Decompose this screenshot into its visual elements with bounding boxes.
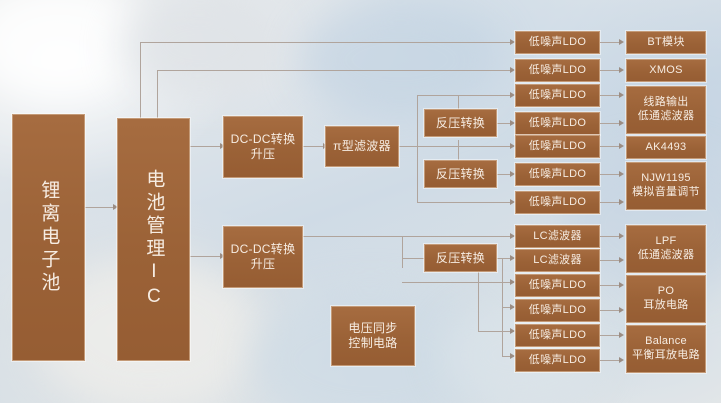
- regulator-bottom-1-label: LC滤波器: [533, 230, 582, 244]
- regulator-top-5-label: 低噪声LDO: [529, 140, 586, 154]
- diagram-canvas: 锂离电子池 电池管理IC DC-DC转换 升压 π型滤波器 反压转换 反压转换 …: [0, 0, 721, 403]
- regulator-top-7-label: 低噪声LDO: [529, 196, 586, 210]
- block-inverter-mid[interactable]: 反压转换: [424, 160, 497, 188]
- link-dcdc-pi: [303, 146, 325, 147]
- background-blur-2: [120, 0, 280, 100]
- block-dcdc-bottom-label: DC-DC转换 升压: [231, 242, 296, 272]
- arrow-loadb-3a: [619, 332, 624, 338]
- block-voltage-sync-label: 电压同步 控制电路: [348, 321, 397, 351]
- background-blur-3: [300, 0, 500, 120]
- load-bt-module-label: BT模块: [647, 36, 684, 50]
- load-balance-amp[interactable]: Balance 平衡耳放电路: [626, 325, 706, 373]
- block-bms[interactable]: 电池管理IC: [117, 118, 190, 361]
- regulator-bottom-4[interactable]: 低噪声LDO: [515, 299, 600, 322]
- link-pi-ldo3: [417, 95, 512, 96]
- regulator-bottom-4-label: 低噪声LDO: [529, 304, 586, 318]
- block-pi-filter-label: π型滤波器: [333, 139, 391, 154]
- arrow-loadb-1a: [619, 233, 624, 239]
- block-inverter-bottom-label: 反压转换: [436, 251, 485, 266]
- load-lpf[interactable]: LPF 低通滤波器: [626, 225, 706, 273]
- regulator-top-2-label: 低噪声LDO: [529, 64, 586, 78]
- regulator-top-4-label: 低噪声LDO: [529, 117, 586, 131]
- regulator-bottom-1[interactable]: LC滤波器: [515, 225, 600, 248]
- arrow-loadb-1b: [619, 257, 624, 263]
- load-lpf-label: LPF 低通滤波器: [638, 235, 695, 263]
- regulator-bottom-2-label: LC滤波器: [533, 254, 582, 268]
- arrow-load-2: [619, 67, 624, 73]
- regulator-top-7[interactable]: 低噪声LDO: [515, 191, 600, 214]
- load-po-amp[interactable]: PO 耳放电路: [626, 275, 706, 323]
- block-pi-filter[interactable]: π型滤波器: [325, 126, 399, 167]
- arrow-loadb-2b: [619, 307, 624, 313]
- block-inverter-mid-label: 反压转换: [436, 167, 485, 182]
- arrow-load-5b: [619, 199, 624, 205]
- load-po-amp-label: PO 耳放电路: [643, 285, 688, 313]
- load-njw1195-label: NJW1195 模拟音量调节: [632, 172, 700, 200]
- link-pi-bus-down: [417, 146, 418, 202]
- load-line-out-lpf-label: 线路输出 低通滤波器: [638, 96, 695, 124]
- background-blur-1: [0, 0, 150, 100]
- regulator-top-1[interactable]: 低噪声LDO: [515, 31, 600, 54]
- regulator-top-1-label: 低噪声LDO: [529, 36, 586, 50]
- load-njw1195[interactable]: NJW1195 模拟音量调节: [626, 162, 706, 210]
- link-pi-inv-top: [458, 95, 459, 109]
- link-bms-dcdc-bottom: [190, 256, 222, 257]
- block-dcdc-bottom[interactable]: DC-DC转换 升压: [223, 226, 303, 288]
- link-bms-top-2: [157, 70, 512, 71]
- link-pi-ldo7: [417, 202, 512, 203]
- regulator-top-3[interactable]: 低噪声LDO: [515, 84, 600, 107]
- regulator-top-2[interactable]: 低噪声LDO: [515, 59, 600, 82]
- link-bms-riser-2: [157, 70, 158, 118]
- block-battery[interactable]: 锂离电子池: [12, 114, 85, 361]
- link-pi-bus-up: [417, 95, 418, 146]
- link-battery-bms: [85, 207, 115, 208]
- regulator-top-3-label: 低噪声LDO: [529, 89, 586, 103]
- link-bms-riser-1: [140, 42, 141, 118]
- load-line-out-lpf[interactable]: 线路输出 低通滤波器: [626, 86, 706, 134]
- link-dcdc2-out: [303, 236, 514, 237]
- arrow-load-3b: [619, 120, 624, 126]
- link-dcdc2-ldo-low: [402, 282, 514, 283]
- link-bms-top-1: [140, 42, 512, 43]
- block-inverter-top[interactable]: 反压转换: [424, 109, 497, 137]
- regulator-bottom-2[interactable]: LC滤波器: [515, 249, 600, 272]
- arrow-loadb-3b: [619, 357, 624, 363]
- regulator-top-4[interactable]: 低噪声LDO: [515, 112, 600, 135]
- regulator-top-5[interactable]: 低噪声LDO: [515, 135, 600, 158]
- regulator-bottom-6-label: 低噪声LDO: [529, 354, 586, 368]
- arrow-load-4: [619, 143, 624, 149]
- regulator-bottom-3-label: 低噪声LDO: [529, 279, 586, 293]
- block-dcdc-top[interactable]: DC-DC转换 升压: [223, 116, 303, 178]
- link-bus-ldo5-h: [478, 331, 514, 332]
- load-xmos-label: XMOS: [649, 64, 683, 78]
- load-ak4493[interactable]: AK4493: [626, 136, 706, 159]
- block-inverter-bottom[interactable]: 反压转换: [424, 244, 497, 272]
- arrow-load-3a: [619, 92, 624, 98]
- link-dcdc2-drop: [402, 236, 403, 268]
- load-balance-amp-label: Balance 平衡耳放电路: [632, 335, 700, 363]
- regulator-top-6-label: 低噪声LDO: [529, 168, 586, 182]
- block-voltage-sync[interactable]: 电压同步 控制电路: [331, 306, 415, 366]
- regulator-bottom-6[interactable]: 低噪声LDO: [515, 349, 600, 372]
- block-dcdc-top-label: DC-DC转换 升压: [231, 132, 296, 162]
- load-xmos[interactable]: XMOS: [626, 59, 706, 82]
- regulator-bottom-5[interactable]: 低噪声LDO: [515, 324, 600, 347]
- load-ak4493-label: AK4493: [646, 141, 687, 155]
- arrow-load-1: [619, 39, 624, 45]
- regulator-bottom-3[interactable]: 低噪声LDO: [515, 274, 600, 297]
- block-bms-label: 电池管理IC: [142, 169, 166, 311]
- regulator-bottom-5-label: 低噪声LDO: [529, 329, 586, 343]
- regulator-top-6[interactable]: 低噪声LDO: [515, 163, 600, 186]
- block-battery-label: 锂离电子池: [37, 180, 61, 295]
- load-bt-module[interactable]: BT模块: [626, 31, 706, 54]
- arrow-loadb-2a: [619, 282, 624, 288]
- arrow-load-5a: [619, 171, 624, 177]
- block-inverter-top-label: 反压转换: [436, 116, 485, 131]
- link-bms-dcdc-top: [190, 146, 222, 147]
